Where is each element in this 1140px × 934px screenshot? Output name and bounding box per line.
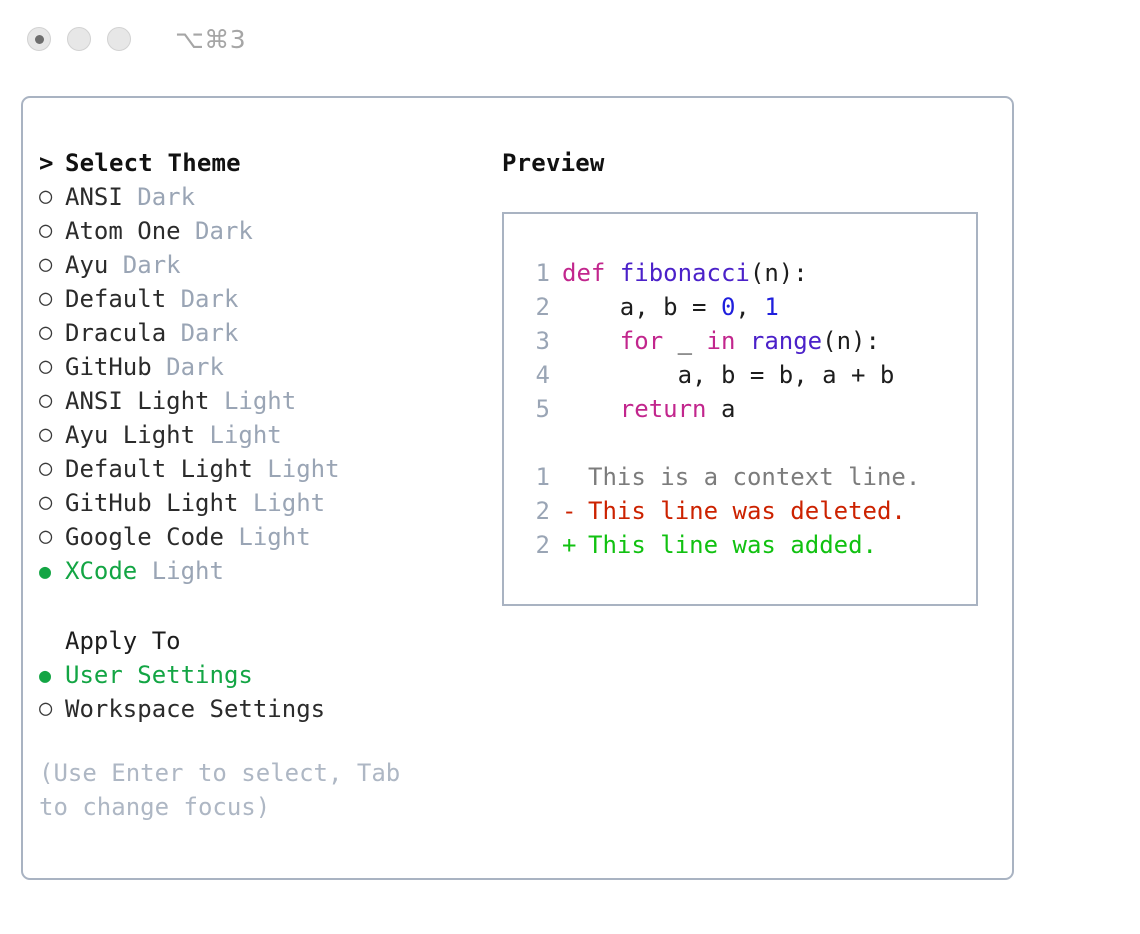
code-line-content: def fibonacci(n): — [562, 256, 808, 290]
diff-line-text: This is a context line. — [588, 460, 920, 494]
theme-name: Default Light — [65, 452, 267, 486]
window-controls — [27, 27, 131, 51]
radio-unselected-icon[interactable]: ○ — [39, 692, 65, 726]
main-panel: > Select Theme ○ANSI Dark○Atom One Dark○… — [21, 96, 1014, 880]
theme-list-item[interactable]: ○Default Light Light — [39, 452, 479, 486]
select-theme-title: Select Theme — [65, 146, 241, 180]
code-diff-spacer — [504, 426, 976, 460]
code-token: ( — [750, 259, 764, 287]
theme-name: Ayu — [65, 248, 123, 282]
code-token: , — [735, 293, 764, 321]
theme-list-item[interactable]: ○ANSI Dark — [39, 180, 479, 214]
preview-column: Preview 1def fibonacci(n):2 a, b = 0, 13… — [502, 146, 1002, 606]
theme-kind-label: Light — [238, 520, 310, 554]
radio-unselected-icon[interactable]: ○ — [39, 214, 65, 248]
section-spacer — [39, 588, 479, 624]
code-line: 1def fibonacci(n): — [504, 256, 976, 290]
code-line-number: 1 — [522, 256, 550, 290]
preview-box: 1def fibonacci(n):2 a, b = 0, 13 for _ i… — [502, 212, 978, 606]
close-dot-center — [35, 35, 44, 44]
diff-line-number: 1 — [522, 460, 550, 494]
code-line: 2 a, b = 0, 1 — [504, 290, 976, 324]
apply-to-option-label: User Settings — [65, 658, 253, 692]
code-sample: 1def fibonacci(n):2 a, b = 0, 13 for _ i… — [504, 256, 976, 426]
code-token — [562, 327, 620, 355]
close-dot-icon[interactable] — [27, 27, 51, 51]
theme-list-item[interactable]: ○Atom One Dark — [39, 214, 479, 248]
code-line: 5 return a — [504, 392, 976, 426]
diff-marker — [562, 460, 588, 494]
theme-list-item[interactable]: ○Dracula Dark — [39, 316, 479, 350]
apply-to-option[interactable]: ○Workspace Settings — [39, 692, 479, 726]
diff-sample: 1 This is a context line.2-This line was… — [504, 460, 976, 562]
preview-title: Preview — [502, 146, 1002, 180]
theme-list-item[interactable]: ○Ayu Dark — [39, 248, 479, 282]
code-token: fibonacci — [620, 259, 750, 287]
minimize-dot-icon[interactable] — [67, 27, 91, 51]
radio-unselected-icon[interactable]: ○ — [39, 282, 65, 316]
theme-kind-label: Light — [210, 418, 282, 452]
diff-line-text: This line was added. — [588, 528, 877, 562]
theme-name: GitHub — [65, 350, 166, 384]
apply-to-bullet-spacer: ○ — [39, 624, 65, 658]
theme-list-item[interactable]: ○Google Code Light — [39, 520, 479, 554]
code-token — [562, 395, 620, 423]
theme-kind-label: Dark — [181, 282, 239, 316]
maximize-dot-icon[interactable] — [107, 27, 131, 51]
radio-unselected-icon[interactable]: ○ — [39, 452, 65, 486]
theme-selector-column: > Select Theme ○ANSI Dark○Atom One Dark○… — [39, 146, 479, 824]
code-line: 4 a, b = b, a + b — [504, 358, 976, 392]
code-line-content: return a — [562, 392, 735, 426]
code-line-content: for _ in range(n): — [562, 324, 880, 358]
theme-name: Dracula — [65, 316, 181, 350]
radio-unselected-icon[interactable]: ○ — [39, 486, 65, 520]
theme-name: ANSI — [65, 180, 137, 214]
radio-unselected-icon[interactable]: ○ — [39, 180, 65, 214]
theme-kind-label: Dark — [195, 214, 253, 248]
radio-selected-icon[interactable]: ● — [39, 554, 65, 588]
code-token: a — [707, 395, 736, 423]
radio-unselected-icon[interactable]: ○ — [39, 520, 65, 554]
code-line-content: a, b = b, a + b — [562, 358, 894, 392]
theme-kind-label: Light — [267, 452, 339, 486]
code-line-number: 4 — [522, 358, 550, 392]
theme-kind-label: Light — [224, 384, 296, 418]
code-line-number: 3 — [522, 324, 550, 358]
code-token: _ — [663, 327, 706, 355]
theme-kind-label: Dark — [166, 350, 224, 384]
code-token: 0 — [721, 293, 735, 321]
theme-name: Default — [65, 282, 181, 316]
theme-name: Atom One — [65, 214, 195, 248]
keyboard-shortcut-label: ⌥⌘3 — [175, 25, 246, 54]
theme-name: XCode — [65, 554, 152, 588]
theme-name: GitHub Light — [65, 486, 253, 520]
code-token — [605, 259, 619, 287]
radio-unselected-icon[interactable]: ○ — [39, 316, 65, 350]
code-line-number: 2 — [522, 290, 550, 324]
theme-list-item[interactable]: ○GitHub Dark — [39, 350, 479, 384]
theme-list: ○ANSI Dark○Atom One Dark○Ayu Dark○Defaul… — [39, 180, 479, 588]
keyboard-hint-text: (Use Enter to select, Tab to change focu… — [39, 756, 439, 824]
theme-name: Google Code — [65, 520, 238, 554]
radio-unselected-icon[interactable]: ○ — [39, 248, 65, 282]
diff-line: 2-This line was deleted. — [504, 494, 976, 528]
code-line-number: 5 — [522, 392, 550, 426]
code-token: a, b = — [562, 293, 721, 321]
diff-marker: - — [562, 494, 588, 528]
diff-line-number: 2 — [522, 494, 550, 528]
radio-unselected-icon[interactable]: ○ — [39, 418, 65, 452]
title-bar: ⌥⌘3 — [0, 0, 1140, 78]
code-token: ): — [779, 259, 808, 287]
code-token: def — [562, 259, 605, 287]
theme-list-item[interactable]: ●XCode Light — [39, 554, 479, 588]
theme-list-item[interactable]: ○Default Dark — [39, 282, 479, 316]
theme-kind-label: Dark — [123, 248, 181, 282]
apply-to-option[interactable]: ●User Settings — [39, 658, 479, 692]
diff-line: 2+This line was added. — [504, 528, 976, 562]
theme-kind-label: Light — [253, 486, 325, 520]
prompt-caret-icon: > — [39, 146, 65, 180]
theme-name: Ayu Light — [65, 418, 210, 452]
theme-kind-label: Dark — [181, 316, 239, 350]
theme-name: ANSI Light — [65, 384, 224, 418]
radio-unselected-icon[interactable]: ○ — [39, 350, 65, 384]
apply-to-option-label: Workspace Settings — [65, 692, 325, 726]
diff-line-number: 2 — [522, 528, 550, 562]
diff-marker: + — [562, 528, 588, 562]
code-token: return — [620, 395, 707, 423]
theme-list-item[interactable]: ○Ayu Light Light — [39, 418, 479, 452]
select-theme-header: > Select Theme — [39, 146, 479, 180]
code-token: n — [764, 259, 778, 287]
code-token: a, b = b, a + b — [562, 361, 894, 389]
code-line: 3 for _ in range(n): — [504, 324, 976, 358]
code-token: for — [620, 327, 663, 355]
radio-selected-icon[interactable]: ● — [39, 658, 65, 692]
radio-unselected-icon[interactable]: ○ — [39, 384, 65, 418]
diff-line-text: This line was deleted. — [588, 494, 906, 528]
theme-list-item[interactable]: ○ANSI Light Light — [39, 384, 479, 418]
code-token: (n): — [822, 327, 880, 355]
apply-to-options: ●User Settings○Workspace Settings — [39, 658, 479, 726]
code-line-content: a, b = 0, 1 — [562, 290, 779, 324]
apply-to-header: ○ Apply To — [39, 624, 479, 658]
theme-kind-label: Light — [152, 554, 224, 588]
app-window: ⌥⌘3 > Select Theme ○ANSI Dark○Atom One D… — [0, 0, 1140, 934]
code-token — [735, 327, 749, 355]
code-token: in — [707, 327, 736, 355]
theme-list-item[interactable]: ○GitHub Light Light — [39, 486, 479, 520]
apply-to-label: Apply To — [65, 624, 181, 658]
diff-line: 1 This is a context line. — [504, 460, 976, 494]
theme-kind-label: Dark — [137, 180, 195, 214]
code-token: range — [750, 327, 822, 355]
code-token: 1 — [764, 293, 778, 321]
